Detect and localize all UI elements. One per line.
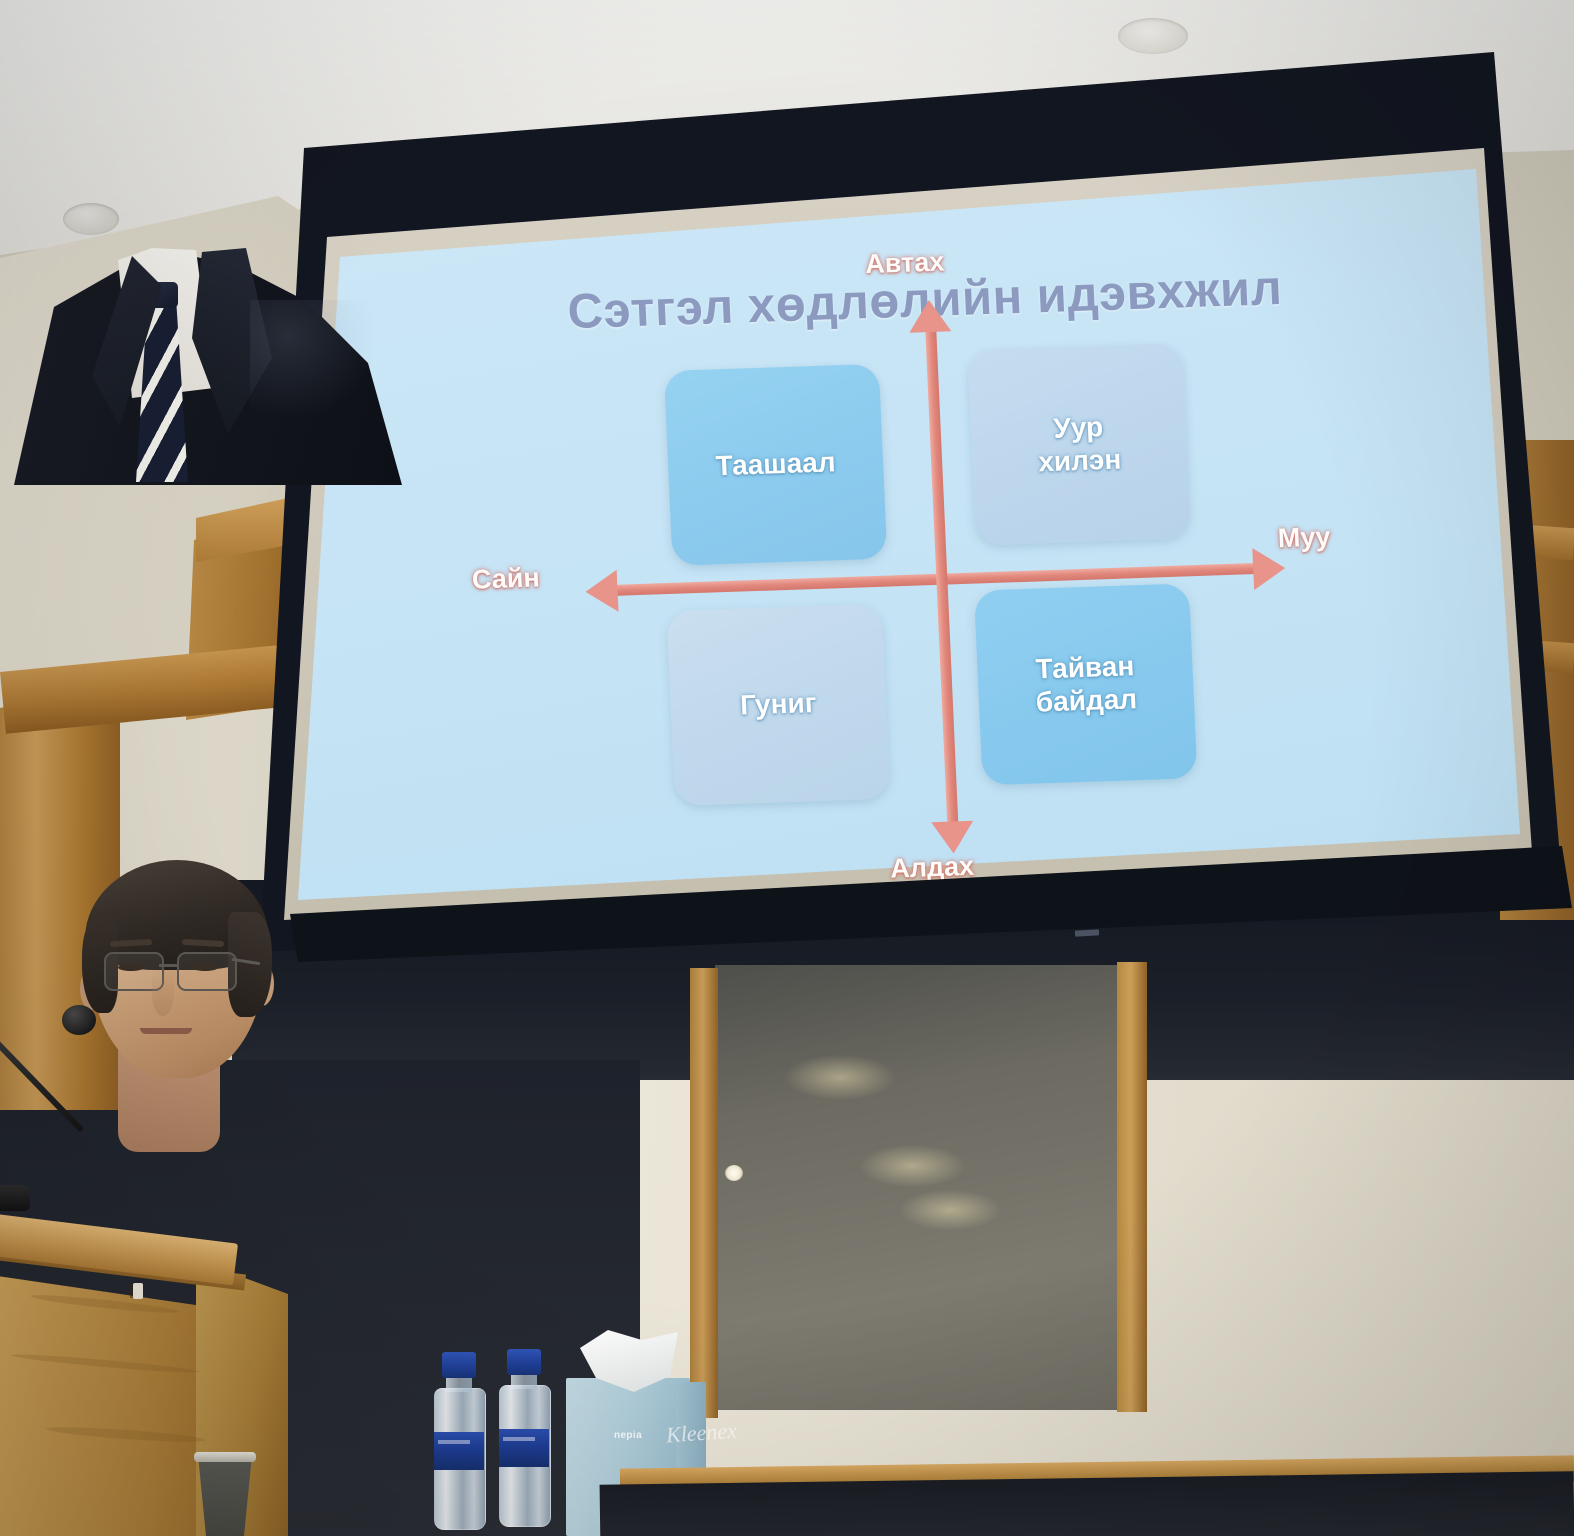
bottle-label-line (438, 1440, 470, 1444)
quadrant-bottom-right: Тайванбайдал (974, 583, 1198, 785)
shoulder-highlight (250, 300, 380, 420)
projection-screen[interactable]: Сэтгэл хөдлөлийн идэвхжил Таашаал Уурхил… (232, 52, 1574, 962)
bottle-neck (446, 1376, 472, 1392)
ceiling-speaker-icon (63, 203, 119, 235)
tissue-box-brand: nepia (596, 1430, 660, 1441)
arrow-down-icon (931, 821, 974, 854)
tissue-box-script: Kleenex (665, 1418, 738, 1449)
light-spot (725, 1165, 743, 1181)
axis-label-top: Автах (865, 246, 945, 280)
bottle-cap (442, 1352, 476, 1378)
glasses-lens-right (177, 952, 237, 991)
light-reflection (900, 1190, 1000, 1230)
light-reflection (860, 1145, 965, 1187)
wood-trim-left (690, 968, 718, 1418)
light-reflection (785, 1055, 895, 1100)
bottle-cap (507, 1349, 541, 1375)
eye-right (192, 964, 218, 971)
bottle-label (434, 1432, 484, 1470)
paper-cup-rim (194, 1452, 256, 1462)
bottle-neck (511, 1373, 537, 1389)
wood-trim-right (1117, 962, 1147, 1412)
quadrant-bottom-left: Гуниг (667, 604, 891, 806)
mouth (140, 1028, 192, 1034)
quadrant-top-right: Уурхилэн (967, 343, 1191, 545)
quadrant-top-left: Таашаал (664, 364, 888, 566)
axis-label-right: Муу (1277, 521, 1331, 554)
bottle-label-line (503, 1437, 535, 1441)
glasses-bridge (159, 964, 179, 967)
podium-switch[interactable] (133, 1283, 143, 1299)
axis-label-left: Сайн (471, 562, 540, 595)
microphone-icon (62, 1005, 96, 1035)
ir-receiver-icon (1075, 929, 1099, 936)
arrow-left-icon (585, 570, 619, 613)
wall-gray-panel (715, 965, 1125, 1410)
slide-content: Сэтгэл хөдлөлийн идэвхжил Таашаал Уурхил… (340, 163, 1530, 882)
nose (152, 970, 174, 1016)
eye-left (118, 964, 144, 971)
lecture-hall-photo: Сэтгэл хөдлөлийн идэвхжил Таашаал Уурхил… (0, 0, 1574, 1536)
microphone-base (0, 1185, 30, 1211)
ceiling-speaker-icon (1118, 18, 1188, 54)
emotion-quadrant-matrix: Таашаал Уурхилэн Гуниг Тайванбайдал Авта… (647, 343, 1228, 832)
bottle-label (499, 1429, 549, 1467)
arrow-up-icon (908, 299, 951, 332)
